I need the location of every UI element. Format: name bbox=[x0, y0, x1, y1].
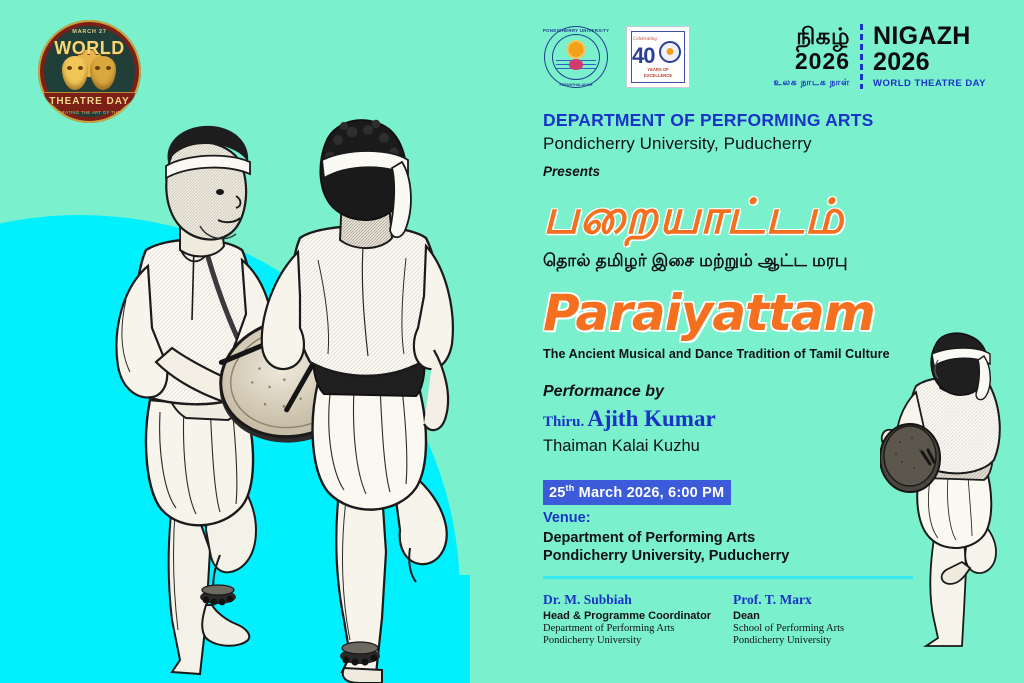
english-subtitle: The Ancient Musical and Dance Tradition … bbox=[543, 347, 973, 361]
credit-block-dean: Prof. T. Marx Dean School of Performing … bbox=[733, 592, 923, 646]
performance-by-label: Performance by bbox=[543, 383, 973, 401]
pondicherry-university-seal: PONDICHERRY UNIVERSITY PERUNTHALAIVAR bbox=[540, 22, 612, 92]
forty-number: 40 bbox=[632, 43, 654, 69]
nigazh-english-name: NIGAZH bbox=[873, 24, 986, 49]
presents-label: Presents bbox=[543, 164, 973, 179]
wtd-word-text: WORLD bbox=[38, 38, 141, 59]
poster-canvas: MARCH 27 WORLD THEATRE DAY CELEBRATING T… bbox=[0, 0, 1024, 683]
parai-drummers-left-illustration bbox=[60, 100, 480, 683]
credits-row: Dr. M. Subbiah Head & Programme Coordina… bbox=[543, 592, 973, 646]
artist-line: Thiru.Ajith Kumar bbox=[543, 406, 973, 432]
venue-line-1: Department of Performing Arts bbox=[543, 530, 973, 546]
english-title: Paraiyattam bbox=[543, 287, 973, 339]
nigazh-english-year: 2026 bbox=[873, 49, 986, 75]
tamil-title: பறையாட்டம் bbox=[543, 189, 973, 247]
emblem-roundel-icon bbox=[659, 41, 681, 63]
nigazh-tamil-name: நிகழ் bbox=[774, 24, 850, 49]
credit-name: Prof. T. Marx bbox=[733, 592, 923, 608]
credit-name: Dr. M. Subbiah bbox=[543, 592, 733, 608]
department-title: DEPARTMENT OF PERFORMING ARTS bbox=[543, 110, 973, 131]
credit-affiliation-2: Pondicherry University bbox=[543, 635, 733, 646]
forty-years-excellence-logo: Celebrating 40 YEARS OFEXCELLENCE bbox=[626, 26, 690, 88]
seal-bottom-text: PERUNTHALAIVAR bbox=[540, 83, 612, 87]
artist-honorific: Thiru. bbox=[543, 414, 584, 430]
nigazh-tamil-year: 2026 bbox=[774, 49, 850, 74]
sun-icon bbox=[569, 42, 584, 57]
section-divider bbox=[543, 576, 913, 579]
credit-affiliation-1: School of Performing Arts bbox=[733, 623, 923, 634]
seal-top-text: PONDICHERRY UNIVERSITY bbox=[540, 28, 612, 33]
wtd-date-text: MARCH 27 bbox=[38, 29, 141, 35]
credit-affiliation-1: Department of Performing Arts bbox=[543, 623, 733, 634]
event-date-badge: 25th March 2026, 6:00 PM bbox=[543, 480, 731, 505]
comedy-mask-icon bbox=[62, 56, 88, 90]
credit-role: Dean bbox=[733, 610, 923, 622]
university-name: Pondicherry University, Puducherry bbox=[543, 134, 973, 154]
credit-block-coordinator: Dr. M. Subbiah Head & Programme Coordina… bbox=[543, 592, 733, 646]
event-date-day: 25 bbox=[549, 485, 566, 501]
venue-label: Venue: bbox=[543, 510, 973, 526]
credit-role: Head & Programme Coordinator bbox=[543, 610, 733, 622]
tamil-subtitle: தொல் தமிழர் இசை மற்றும் ஆட்ட மரபு bbox=[543, 251, 973, 273]
venue-line-2: Pondicherry University, Puducherry bbox=[543, 548, 973, 564]
years-of-excellence-text: YEARS OFEXCELLENCE bbox=[627, 67, 689, 78]
nigazh-festival-lockup: நிகழ் 2026 உலக நாடக நாள் NIGAZH 2026 WOR… bbox=[774, 24, 986, 89]
artist-name: Ajith Kumar bbox=[587, 406, 715, 431]
tragedy-mask-icon bbox=[90, 56, 116, 90]
nigazh-tamil-tagline: உலக நாடக நாள் bbox=[774, 77, 850, 89]
event-date-rest: March 2026, 6:00 PM bbox=[574, 485, 724, 501]
nigazh-english-tagline: WORLD THEATRE DAY bbox=[873, 78, 986, 89]
troupe-name: Thaiman Kalai Kuzhu bbox=[543, 437, 973, 456]
lotus-icon bbox=[569, 59, 583, 70]
credit-affiliation-2: Pondicherry University bbox=[733, 635, 923, 646]
celebrating-text: Celebrating bbox=[633, 37, 657, 42]
poster-content-column: DEPARTMENT OF PERFORMING ARTS Pondicherr… bbox=[543, 110, 973, 646]
